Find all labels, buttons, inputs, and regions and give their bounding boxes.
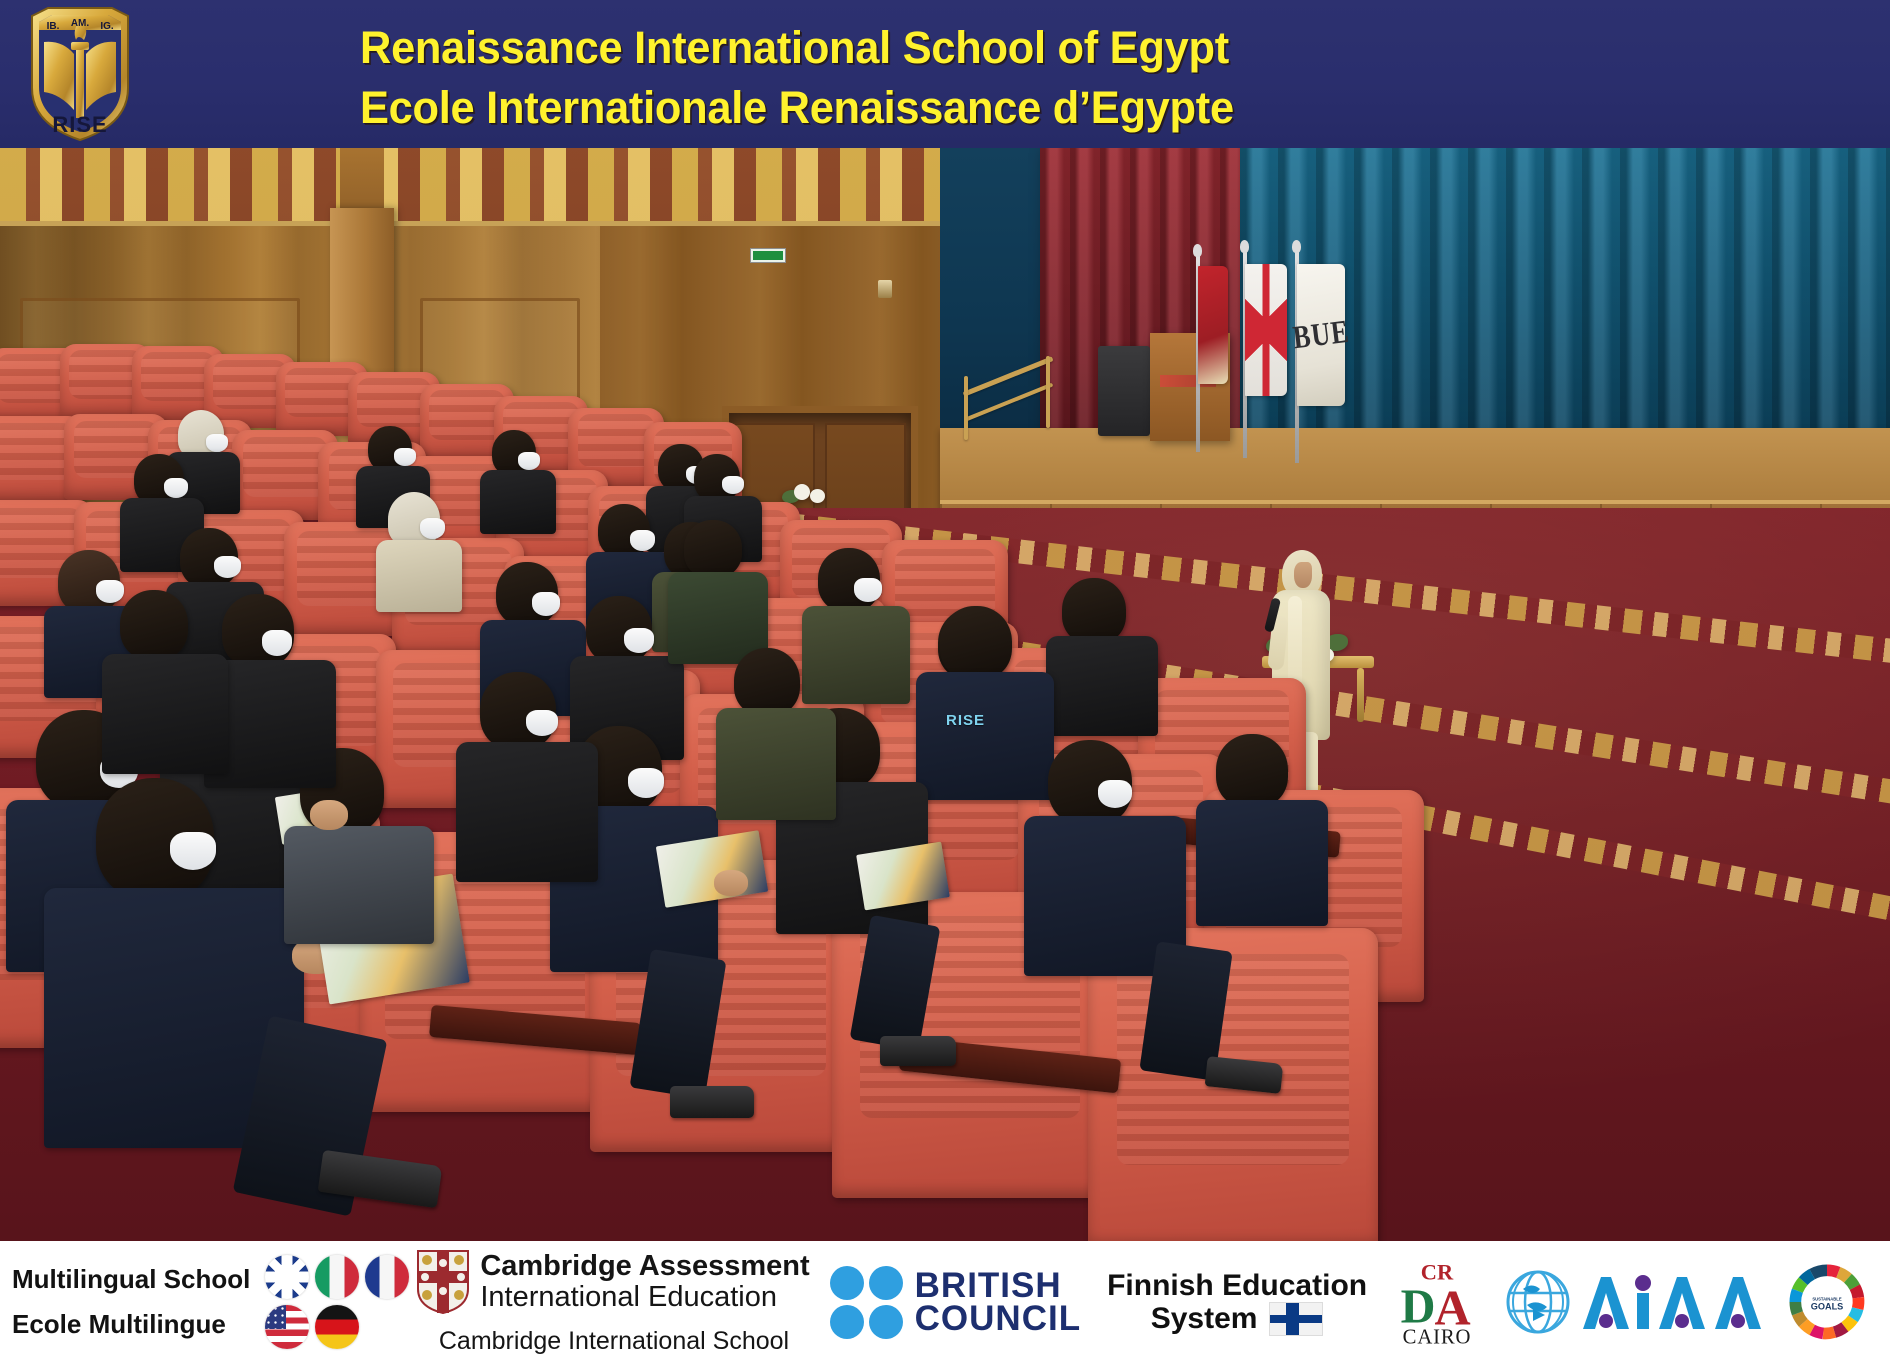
- svg-text:AM.: AM.: [71, 18, 90, 29]
- auditorium-photo: BUE: [0, 148, 1890, 1241]
- flagpole-finial: [1292, 240, 1301, 253]
- gold-ornamental-frieze: [0, 148, 1100, 226]
- finnish-line1: Finnish Education: [1107, 1269, 1367, 1302]
- cambridge-shield-icon: [416, 1249, 470, 1315]
- header-banner: AM. IB. IG. RISE Renaissance Internation…: [0, 0, 1890, 148]
- header-title-group: Renaissance International School of Egyp…: [360, 22, 1540, 134]
- flag-usa-icon: [265, 1305, 309, 1349]
- sdg-block: SUSTAINABLE GOALS: [1779, 1241, 1875, 1363]
- flagpole-finial: [1193, 244, 1202, 257]
- svg-text:CAIRO: CAIRO: [1403, 1326, 1472, 1348]
- svg-text:IG.: IG.: [100, 21, 114, 32]
- hand: [714, 870, 748, 896]
- finnish-line2: System: [1151, 1302, 1258, 1335]
- sdg-label-line1: SUSTAINABLE: [1812, 1296, 1841, 1301]
- british-council-line2: COUNCIL: [915, 1302, 1081, 1335]
- stage-stair-railing: [960, 370, 1056, 448]
- flag-finland-icon: [1269, 1302, 1323, 1336]
- sdg-label-line2: GOALS: [1811, 1302, 1844, 1312]
- sdg-wheel-icon: SUSTAINABLE GOALS: [1779, 1254, 1875, 1350]
- british-council-block: BRITISH COUNCIL: [816, 1241, 1095, 1363]
- flag-united-kingdom: [1245, 264, 1287, 396]
- multilingual-label-fr: Ecole Multilingue: [12, 1309, 250, 1340]
- finnish-education-block: Finnish Education System: [1095, 1241, 1379, 1363]
- hand: [310, 800, 348, 830]
- school-crest-logo: AM. IB. IG. RISE: [24, 6, 136, 142]
- flagpole-finial: [1240, 240, 1249, 253]
- aiaa-block: [1495, 1241, 1779, 1363]
- british-council-line1: BRITISH: [915, 1269, 1081, 1302]
- flag-italy-icon: [315, 1255, 359, 1299]
- flag-germany-icon: [315, 1305, 359, 1349]
- da-cairo-block: CR D A CAIRO: [1379, 1250, 1495, 1354]
- cambridge-line1: Cambridge Assessment: [480, 1251, 809, 1281]
- svg-text:RISE: RISE: [52, 112, 107, 137]
- british-council-dots-icon: [830, 1266, 903, 1339]
- model-united-nations-block: Model United Nations: [1875, 1241, 1890, 1363]
- da-cairo-logo-icon: CR D A CAIRO: [1387, 1250, 1487, 1354]
- aiaa-wordmark-icon: [1579, 1271, 1769, 1333]
- language-flags: [264, 1254, 410, 1350]
- multilingual-label-en: Multilingual School: [12, 1264, 250, 1295]
- stage-speaker-monitor: [1098, 346, 1150, 436]
- multilingual-school-block: Multilingual School Ecole Multilingue: [6, 1241, 410, 1363]
- rise-shield-icon: AM. IB. IG. RISE: [24, 6, 136, 142]
- cambridge-assessment-block: Cambridge Assessment International Educa…: [410, 1241, 815, 1363]
- united-nations-emblem-icon: [1881, 1252, 1890, 1352]
- flag-red: [1198, 266, 1228, 384]
- exit-sign: [750, 248, 786, 263]
- rise-hoodie-text: RISE: [946, 712, 985, 729]
- school-title-french: Ecole Internationale Renaissance d’Egypt…: [360, 82, 1499, 134]
- bue-banner-text: BUE: [1291, 313, 1352, 357]
- aiaa-globe-icon: [1505, 1269, 1571, 1335]
- school-title-english: Renaissance International School of Egyp…: [360, 22, 1499, 74]
- flag-bue-banner: BUE: [1297, 264, 1345, 406]
- flag-france-icon: [365, 1255, 409, 1299]
- presenter-face: [1294, 562, 1312, 588]
- poster-frame: AM. IB. IG. RISE Renaissance Internation…: [0, 0, 1890, 1363]
- cambridge-subtitle: Cambridge International School: [437, 1327, 789, 1356]
- wall-lamp: [878, 280, 892, 298]
- svg-text:IB.: IB.: [47, 21, 60, 32]
- flag-uk-icon: [265, 1255, 309, 1299]
- accreditation-logo-bar: Multilingual School Ecole Multilingue: [0, 1241, 1890, 1363]
- cambridge-line2: International Education: [480, 1282, 809, 1312]
